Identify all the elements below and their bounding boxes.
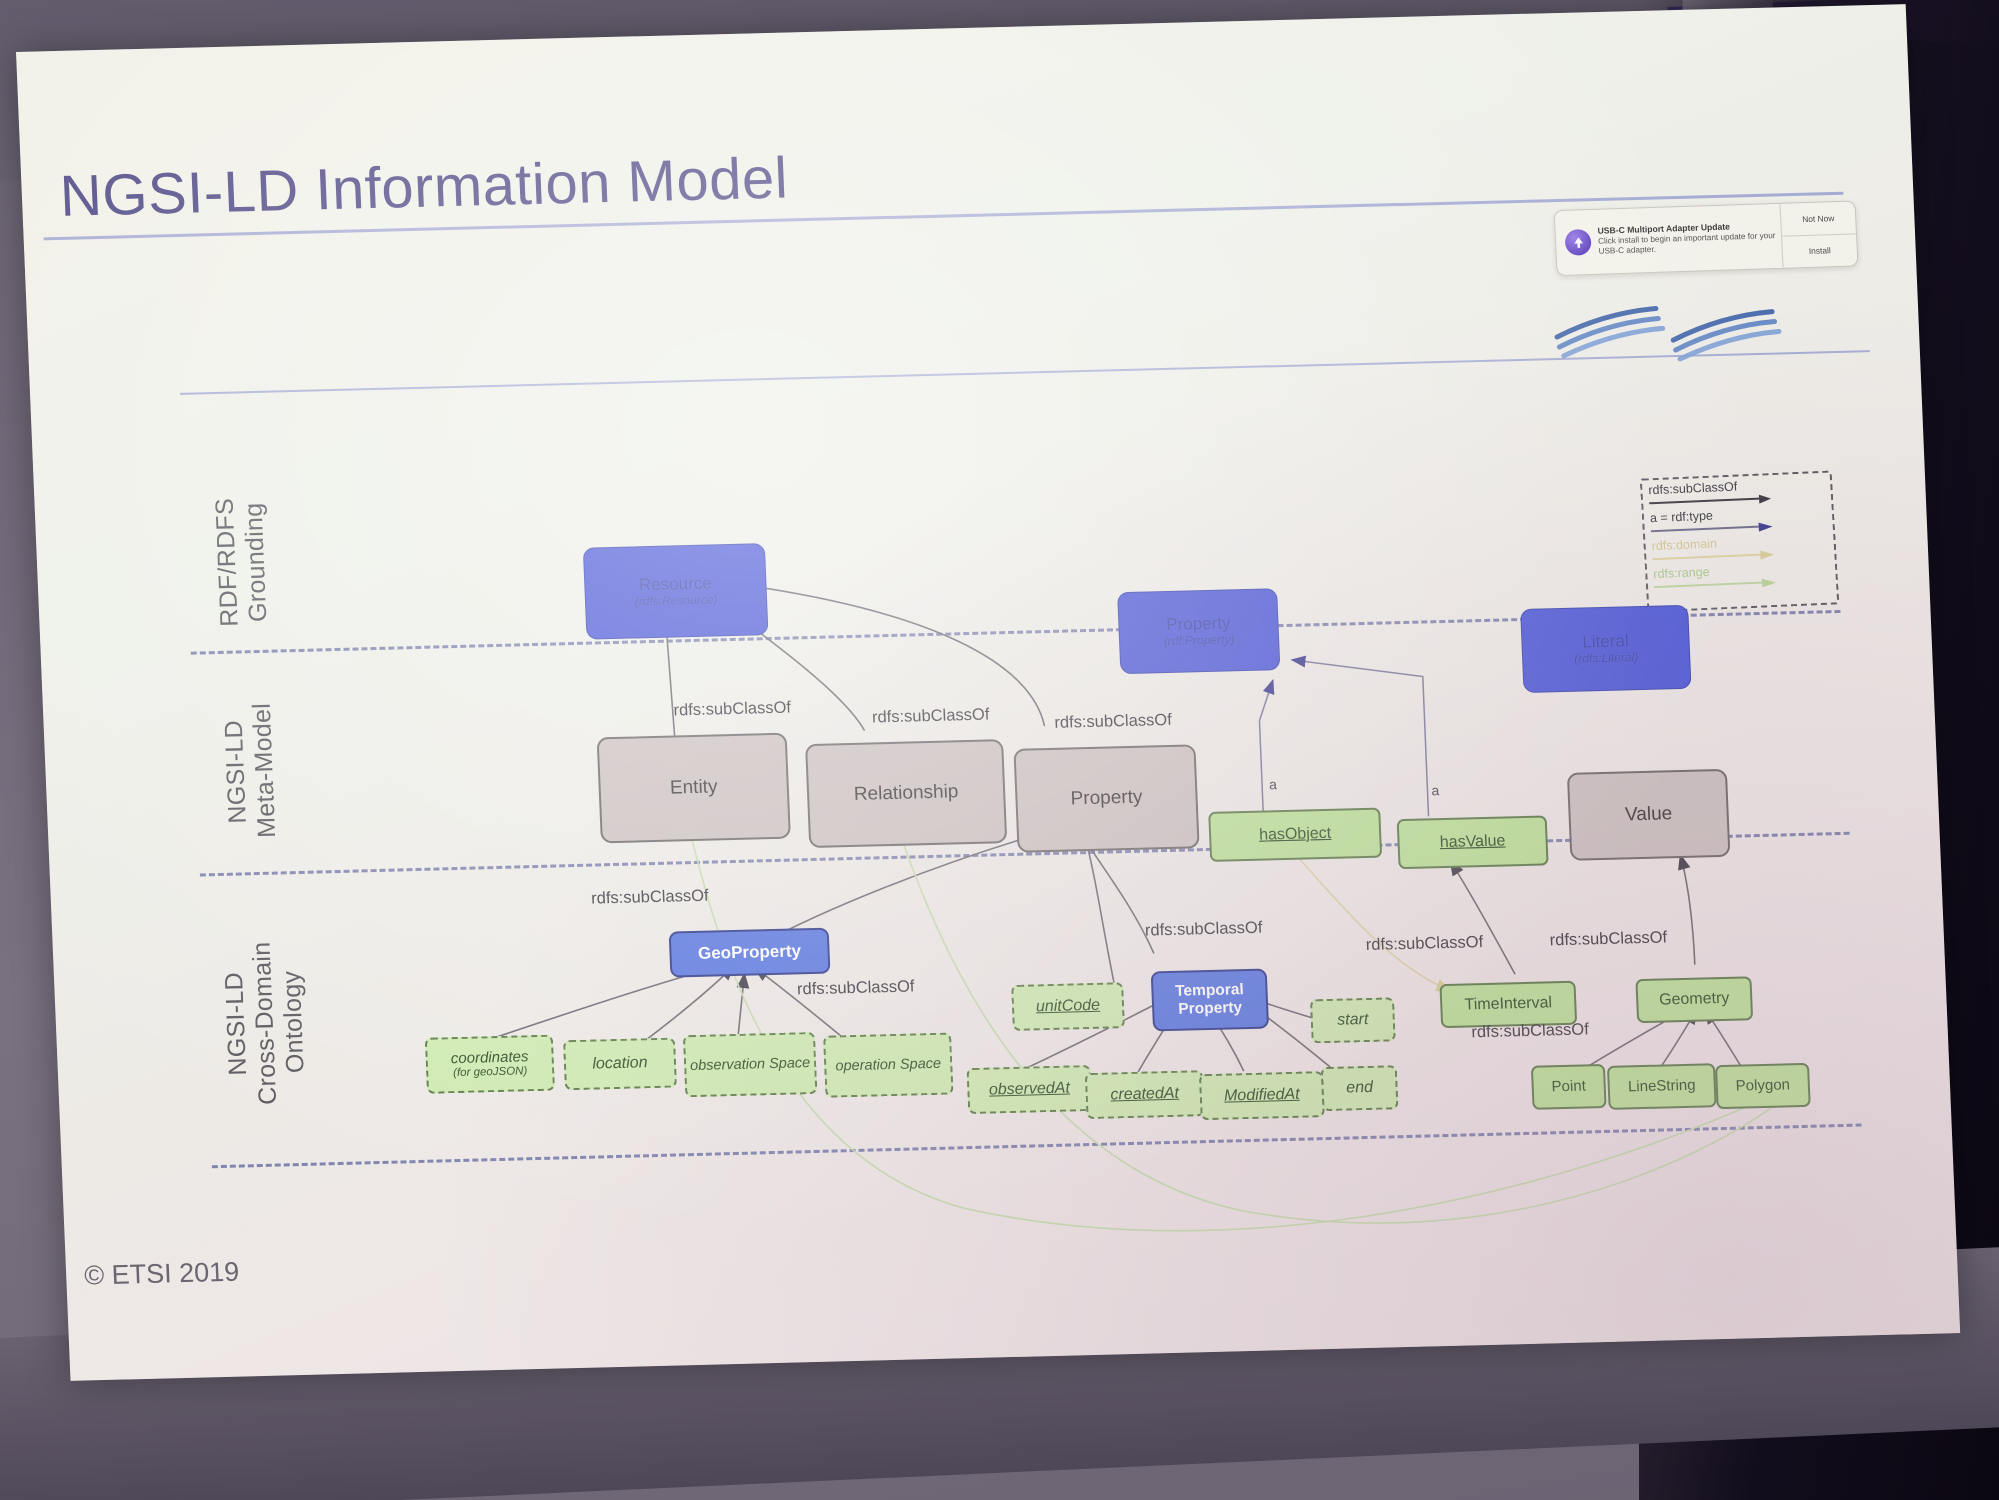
node-rdf-property-sublabel: (rdf:Property) [1164, 633, 1235, 649]
node-observation-space-label: observation Space [690, 1055, 811, 1075]
node-hasobject[interactable]: hasObject [1208, 808, 1382, 862]
node-createdat[interactable]: createdAt [1085, 1070, 1205, 1119]
node-linestring-label: LineString [1628, 1077, 1696, 1096]
node-property-label: Property [1070, 787, 1143, 811]
edge-label-subclassof-geometry: rdfs:subClassOf [1549, 928, 1667, 950]
node-entity-label: Entity [670, 776, 718, 799]
edge-label-subclassof-3: rdfs:subClassOf [1054, 711, 1172, 733]
node-property[interactable]: Property [1013, 744, 1199, 853]
edge-label-subclassof-points: rdfs:subClassOf [1471, 1020, 1589, 1042]
node-location[interactable]: location [563, 1038, 677, 1091]
band-label-rdf-grounding: RDF/RDFS Grounding [210, 478, 274, 647]
node-start[interactable]: start [1310, 997, 1396, 1043]
node-observedat-label: observedAt [989, 1079, 1071, 1099]
band-label-meta-model: NGSI-LD Meta-Model [218, 676, 283, 867]
node-modifiedat[interactable]: ModifiedAt [1199, 1071, 1325, 1120]
node-geometry-label: Geometry [1659, 990, 1730, 1010]
node-literal-sublabel: (rdfs:Literal) [1574, 651, 1639, 666]
install-button[interactable]: Install [1782, 233, 1858, 268]
notification-body: USB-C Multiport Adapter Update Click ins… [1597, 220, 1781, 258]
node-literal[interactable]: Literal (rdfs:Literal) [1520, 605, 1691, 693]
system-notification[interactable]: USB-C Multiport Adapter Update Click ins… [1554, 200, 1859, 276]
node-polygon[interactable]: Polygon [1715, 1063, 1811, 1109]
node-end-label: end [1346, 1079, 1373, 1098]
edge-label-subclassof-2: rdfs:subClassOf [872, 706, 990, 728]
node-temporal-property-label: Temporal Property [1153, 981, 1266, 1019]
node-unitcode[interactable]: unitCode [1011, 982, 1125, 1031]
edge-label-subclassof-operation: rdfs:subClassOf [797, 977, 915, 999]
node-observation-space[interactable]: observation Space [683, 1032, 818, 1097]
node-geoproperty[interactable]: GeoProperty [669, 928, 831, 978]
diagram-legend: rdfs:subClassOf a = rdf:type rdfs:domain [1640, 470, 1840, 612]
node-entity[interactable]: Entity [597, 733, 791, 844]
node-geoproperty-label: GeoProperty [698, 942, 802, 964]
node-hasvalue-label: hasValue [1439, 832, 1505, 852]
node-operation-space-label: operation Space [835, 1055, 941, 1074]
node-point-label: Point [1551, 1078, 1586, 1096]
screenshot-root: NGSI-LD Information Model [0, 0, 1999, 1500]
node-resource[interactable]: Resource (rdfs:Resource) [583, 543, 769, 640]
band-label-cross-domain: NGSI-LD Cross-Domain Ontology [217, 891, 314, 1155]
node-observedat[interactable]: observedAt [966, 1065, 1092, 1114]
edge-label-rdftype-2: a [1431, 782, 1439, 798]
node-unitcode-label: unitCode [1036, 997, 1101, 1017]
edge-label-subclassof-1: rdfs:subClassOf [673, 699, 791, 721]
notification-actions: Not Now Install [1779, 201, 1857, 267]
not-now-button[interactable]: Not Now [1780, 201, 1855, 235]
node-relationship-label: Relationship [853, 781, 958, 805]
edge-label-subclassof-temporal: rdfs:subClassOf [1145, 919, 1263, 941]
software-update-icon [1565, 229, 1592, 256]
node-start-label: start [1337, 1011, 1369, 1030]
node-coordinates-sublabel: (for geoJSON) [453, 1065, 528, 1080]
node-value-label: Value [1625, 803, 1673, 826]
node-coordinates[interactable]: coordinates (for geoJSON) [425, 1035, 555, 1094]
node-hasvalue[interactable]: hasValue [1397, 815, 1549, 869]
node-temporal-property[interactable]: Temporal Property [1151, 969, 1269, 1032]
projection-screen: NGSI-LD Information Model [16, 4, 1960, 1381]
edge-label-subclassof-timeinterval: rdfs:subClassOf [1365, 933, 1483, 955]
node-createdat-label: createdAt [1110, 1085, 1179, 1105]
legend-row-range: rdfs:range [1653, 561, 1830, 596]
node-hasobject-label: hasObject [1259, 825, 1332, 845]
page-title: NGSI-LD Information Model [59, 145, 790, 230]
node-polygon-label: Polygon [1735, 1077, 1790, 1096]
edge-label-rdftype-1: a [1269, 776, 1277, 792]
node-location-label: location [592, 1054, 648, 1074]
edge-label-subclassof-geo: rdfs:subClassOf [591, 887, 709, 909]
node-timeinterval-label: TimeInterval [1464, 994, 1552, 1015]
node-resource-sublabel: (rdfs:Resource) [634, 593, 717, 609]
node-end[interactable]: end [1321, 1065, 1399, 1111]
node-point[interactable]: Point [1531, 1064, 1607, 1110]
node-coordinates-label: coordinates [451, 1048, 529, 1067]
legend-label-subclassof: rdfs:subClassOf [1648, 477, 1825, 498]
node-operation-space[interactable]: operation Space [823, 1033, 954, 1098]
copyright-notice: © ETSI 2019 [84, 1257, 240, 1292]
node-value[interactable]: Value [1567, 769, 1731, 861]
node-geometry[interactable]: Geometry [1635, 976, 1753, 1023]
slide-content: NGSI-LD Information Model [16, 4, 1960, 1381]
node-linestring[interactable]: LineString [1607, 1063, 1717, 1110]
node-literal-label: Literal [1582, 632, 1629, 653]
node-relationship[interactable]: Relationship [805, 739, 1007, 848]
node-rdf-property[interactable]: Property (rdf:Property) [1117, 588, 1280, 674]
band-separator-3 [212, 1124, 1862, 1169]
node-modifiedat-label: ModifiedAt [1224, 1086, 1300, 1106]
